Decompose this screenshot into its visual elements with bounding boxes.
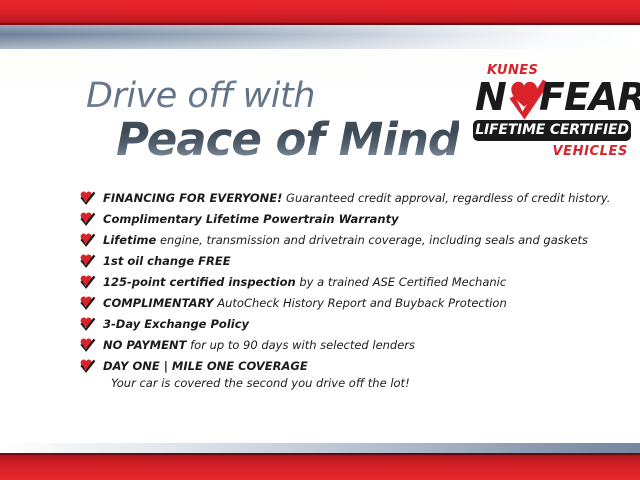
logo-lifetime-certified-text: LIFETIME CERTIFIED	[473, 120, 631, 141]
benefit-lead: DAY ONE | MILE ONE COVERAGE	[103, 359, 308, 373]
heart-check-bullet-icon	[78, 338, 96, 352]
dealer-promo-banner: Drive off with Peace of Mind KUNES N FEA…	[0, 0, 640, 480]
benefit-subtext: Your car is covered the second you drive…	[111, 376, 578, 390]
bottom-silver-band	[0, 443, 640, 453]
heart-check-bullet-icon	[78, 317, 96, 331]
heart-check-bullet-icon	[78, 191, 96, 205]
heart-check-bullet-icon	[78, 254, 96, 268]
benefit-lead: COMPLIMENTARY	[103, 296, 214, 310]
benefit-item: NO PAYMENT for up to 90 days with select…	[78, 338, 578, 352]
benefit-item: DAY ONE | MILE ONE COVERAGE Your car is …	[78, 359, 578, 390]
top-red-band	[0, 0, 640, 25]
benefit-item: COMPLIMENTARY AutoCheck History Report a…	[78, 296, 578, 310]
logo-wordmark: N FEAR	[473, 77, 631, 117]
banner-content: Drive off with Peace of Mind KUNES N FEA…	[0, 49, 640, 443]
benefit-item: 125-point certified inspection by a trai…	[78, 275, 578, 289]
benefit-item: FINANCING FOR EVERYONE! Guaranteed credi…	[78, 191, 578, 205]
benefit-lead: FINANCING FOR EVERYONE!	[103, 191, 282, 205]
benefit-item: Complimentary Lifetime Powertrain Warran…	[78, 212, 578, 226]
benefit-lead: Lifetime	[103, 233, 156, 247]
heart-check-bullet-icon	[78, 212, 96, 226]
benefit-lead: 1st oil change FREE	[103, 254, 231, 268]
logo-word-fear: FEAR	[539, 77, 640, 117]
benefits-list: FINANCING FOR EVERYONE! Guaranteed credi…	[78, 191, 578, 397]
kunes-no-fear-logo: KUNES N FEAR LIFETIME CERTIFIED VEHICLES	[473, 63, 631, 168]
benefit-rest: AutoCheck History Report and Buyback Pro…	[214, 296, 507, 310]
top-silver-band	[0, 25, 640, 49]
headline-line-2: Peace of Mind	[116, 117, 459, 162]
heart-check-bullet-icon	[78, 296, 96, 310]
benefit-rest: Guaranteed credit approval, regardless o…	[282, 191, 610, 205]
benefit-item: Lifetime engine, transmission and drivet…	[78, 233, 578, 247]
benefit-rest: by a trained ASE Certified Mechanic	[296, 275, 506, 289]
benefit-lead: 3-Day Exchange Policy	[103, 317, 249, 331]
benefit-rest: engine, transmission and drivetrain cove…	[156, 233, 588, 247]
heart-check-bullet-icon	[78, 275, 96, 289]
benefit-lead: NO PAYMENT	[103, 338, 186, 352]
benefit-lead: Complimentary Lifetime Powertrain Warran…	[103, 212, 399, 226]
benefit-item: 3-Day Exchange Policy	[78, 317, 578, 331]
heart-check-bullet-icon	[78, 359, 96, 373]
bottom-red-band	[0, 453, 640, 480]
benefit-rest: for up to 90 days with selected lenders	[186, 338, 415, 352]
heart-check-bullet-icon	[78, 233, 96, 247]
logo-lifetime-certified-bar: LIFETIME CERTIFIED	[473, 120, 631, 141]
headline-line-1: Drive off with	[86, 79, 459, 114]
logo-word-vehicles: VEHICLES	[552, 144, 628, 159]
benefit-item: 1st oil change FREE	[78, 254, 578, 268]
benefit-lead: 125-point certified inspection	[103, 275, 296, 289]
headline: Drive off with Peace of Mind	[86, 79, 459, 162]
